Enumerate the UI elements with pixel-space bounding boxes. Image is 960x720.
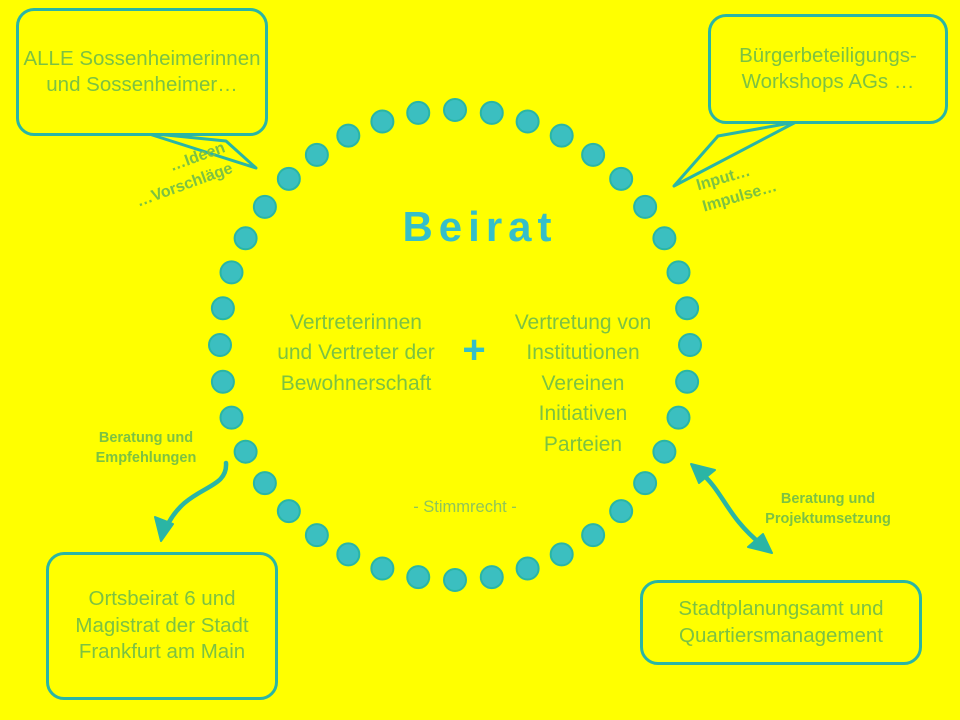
circle-dot bbox=[306, 524, 328, 546]
circle-dot bbox=[517, 558, 539, 580]
circle-dot bbox=[582, 144, 604, 166]
bubble-alle-sossenheimer[interactable]: ALLE Sossenheimerinnen und Sossenheimer… bbox=[16, 8, 268, 136]
circle-dot bbox=[551, 125, 573, 147]
circle-dot bbox=[235, 441, 257, 463]
circle-dot bbox=[371, 558, 393, 580]
circle-dot bbox=[582, 524, 604, 546]
circle-dot bbox=[679, 334, 701, 356]
circle-dot bbox=[668, 261, 690, 283]
circle-dot bbox=[254, 472, 276, 494]
diagram-canvas: ALLE Sossenheimerinnen und Sossenheimer…… bbox=[0, 0, 960, 720]
circle-dot bbox=[306, 144, 328, 166]
arrow-to-ortsbeirat bbox=[155, 463, 226, 541]
circle-dot bbox=[676, 297, 698, 319]
plus-icon: + bbox=[452, 330, 496, 370]
circle-dot bbox=[278, 168, 300, 190]
circle-dot bbox=[481, 566, 503, 588]
circle-dot bbox=[551, 543, 573, 565]
circle-dot bbox=[407, 102, 429, 124]
circle-dot bbox=[209, 334, 231, 356]
circle-dot bbox=[407, 566, 429, 588]
circle-dot bbox=[517, 111, 539, 133]
circle-dot bbox=[668, 407, 690, 429]
circle-dot bbox=[481, 102, 503, 124]
circle-dot bbox=[610, 500, 632, 522]
circle-dot bbox=[212, 371, 234, 393]
circle-dot bbox=[221, 407, 243, 429]
box-bottom-left-text: Ortsbeirat 6 und Magistrat der Stadt Fra… bbox=[49, 586, 275, 666]
bubble-right-text: Bürgerbeteiligungs- Workshops AGs … bbox=[711, 43, 945, 95]
center-right-column: Vertretung von Institutionen Vereinen In… bbox=[508, 308, 658, 460]
circle-dot bbox=[444, 569, 466, 591]
box-bottom-right-text: Stadtplanungsamt und Quartiersmanagement bbox=[643, 596, 919, 649]
circle-dot bbox=[212, 297, 234, 319]
bubble-buergerbeteiligungs-workshops[interactable]: Bürgerbeteiligungs- Workshops AGs … bbox=[708, 14, 948, 124]
label-beratung-und-empfehlungen: Beratung und Empfehlungen bbox=[76, 428, 216, 469]
label-beratung-und-projektumsetzung: Beratung und Projektumsetzung bbox=[742, 489, 914, 530]
circle-dot bbox=[371, 111, 393, 133]
circle-dot bbox=[634, 472, 656, 494]
box-ortsbeirat-magistrat[interactable]: Ortsbeirat 6 und Magistrat der Stadt Fra… bbox=[46, 552, 278, 700]
circle-dot bbox=[676, 371, 698, 393]
circle-dot bbox=[337, 543, 359, 565]
circle-dot bbox=[337, 125, 359, 147]
stimmrecht-note: - Stimmrecht - bbox=[330, 498, 600, 517]
circle-dot bbox=[278, 500, 300, 522]
page-title: Beirat bbox=[0, 203, 960, 251]
bubble-left-text: ALLE Sossenheimerinnen und Sossenheimer… bbox=[19, 46, 265, 98]
circle-dot bbox=[444, 99, 466, 121]
circle-dot bbox=[610, 168, 632, 190]
box-stadtplanungsamt-quartiersmanagement[interactable]: Stadtplanungsamt und Quartiersmanagement bbox=[640, 580, 922, 665]
circle-dot bbox=[221, 261, 243, 283]
center-left-column: Vertreterinnen und Vertreter der Bewohne… bbox=[270, 308, 442, 399]
label-ideen-vorschlaege: …Ideen …Vorschläge bbox=[126, 137, 236, 212]
